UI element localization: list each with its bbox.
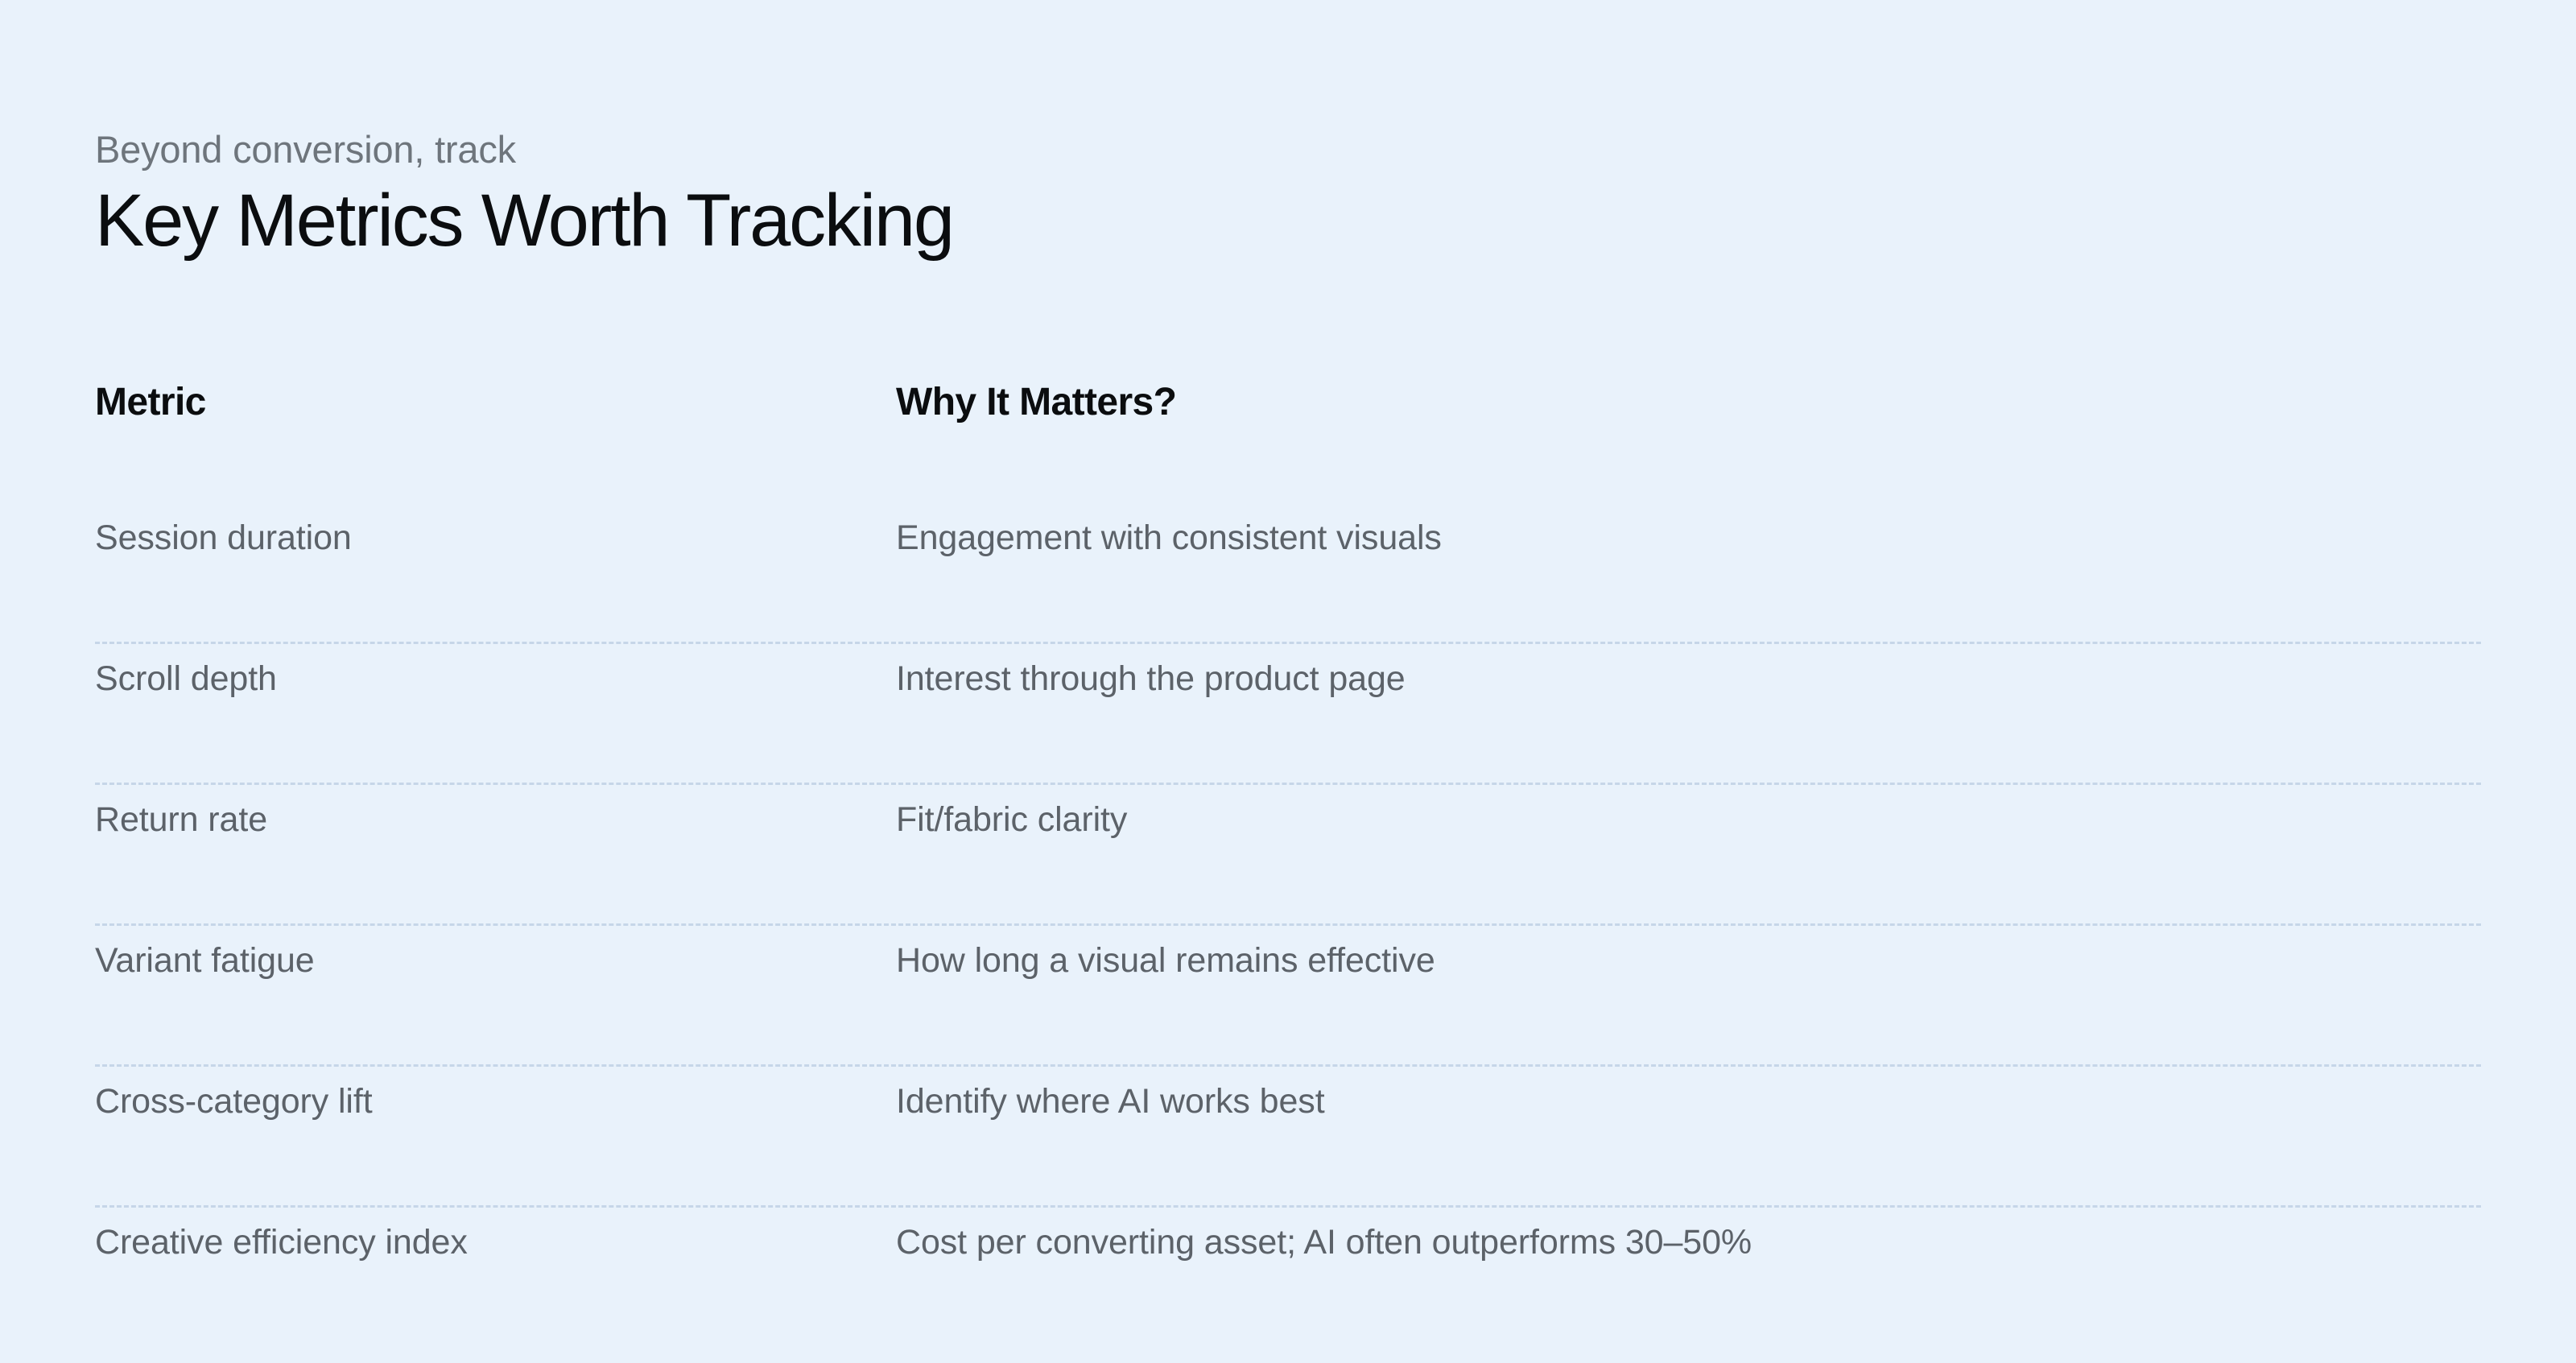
table-row: Variant fatigue How long a visual remain… [95,926,2481,1067]
cell-why: How long a visual remains effective [896,926,2481,983]
table-header-row: Metric Why It Matters? [95,378,2481,503]
slide-header: Beyond conversion, track Key Metrics Wor… [95,129,2486,259]
cell-why: Fit/fabric clarity [896,785,2481,842]
cell-metric: Creative efficiency index [95,1208,896,1265]
cell-why: Identify where AI works best [896,1067,2481,1124]
cell-metric: Return rate [95,785,896,842]
cell-metric: Variant fatigue [95,926,896,983]
slide-root: Beyond conversion, track Key Metrics Wor… [0,0,2576,1363]
page-title: Key Metrics Worth Tracking [95,182,2486,260]
table-row: Scroll depth Interest through the produc… [95,644,2481,785]
cell-metric: Session duration [95,503,896,560]
eyebrow-text: Beyond conversion, track [95,129,2486,171]
cell-why: Cost per converting asset; AI often outp… [896,1208,2481,1265]
column-header-metric: Metric [95,378,896,427]
cell-metric: Cross-category lift [95,1067,896,1124]
table-row: Session duration Engagement with consist… [95,503,2481,644]
table-row: Return rate Fit/fabric clarity [95,785,2481,926]
metrics-table: Metric Why It Matters? Session duration … [95,378,2481,1349]
cell-why: Engagement with consistent visuals [896,503,2481,560]
cell-metric: Scroll depth [95,644,896,701]
cell-why: Interest through the product page [896,644,2481,701]
table-row: Creative efficiency index Cost per conve… [95,1208,2481,1349]
table-row: Cross-category lift Identify where AI wo… [95,1067,2481,1208]
column-header-why: Why It Matters? [896,378,2481,427]
